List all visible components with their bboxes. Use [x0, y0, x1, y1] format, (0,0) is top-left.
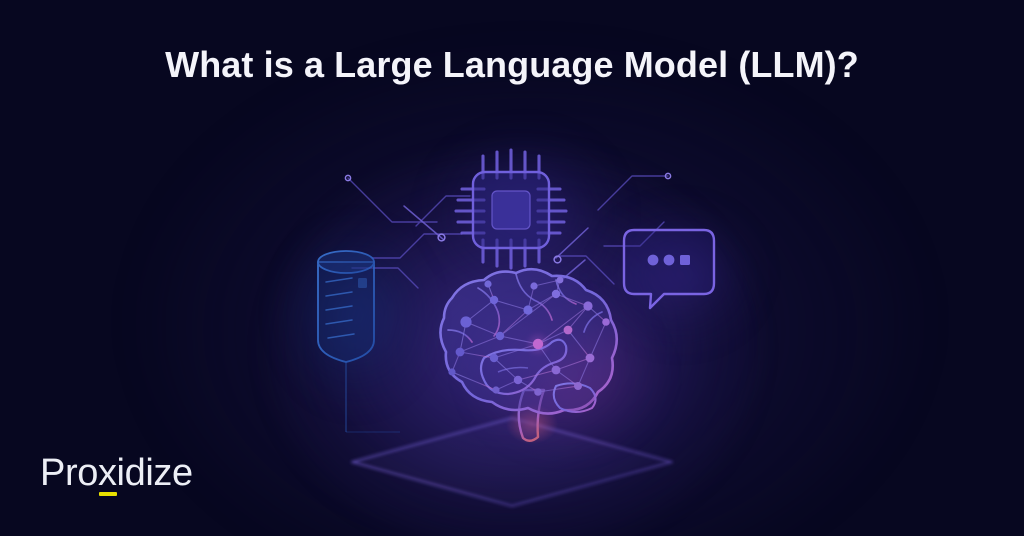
brain-wireframe	[440, 269, 616, 413]
brand-logo-accent-x: x	[98, 452, 117, 494]
speech-bubble-dots	[648, 255, 690, 266]
brand-logo-text-after: idize	[117, 452, 193, 494]
banner-canvas: What is a Large Language Model (LLM)? Pr…	[0, 0, 1024, 536]
speech-bubble-icon	[624, 230, 714, 308]
cpu-chip-icon	[456, 150, 566, 268]
brand-logo-text-before: Pro	[40, 452, 98, 494]
brand-logo[interactable]: Proxidize	[40, 452, 193, 494]
server-rack-icon	[318, 251, 400, 432]
page-title: What is a Large Language Model (LLM)?	[0, 43, 1024, 87]
accent-node-glow	[529, 335, 547, 353]
